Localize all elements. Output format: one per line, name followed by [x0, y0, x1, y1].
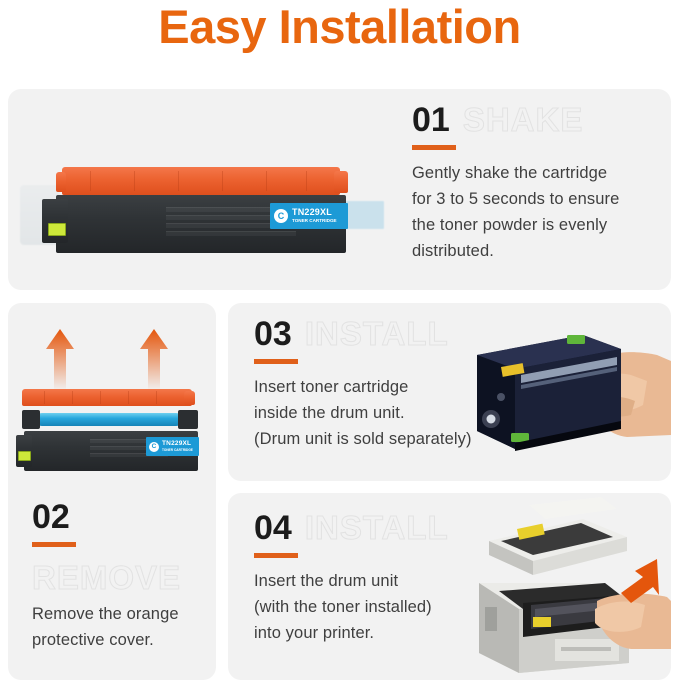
- step-02-description: Remove the orange protective cover.: [32, 601, 212, 653]
- orange-protective-cover: [22, 389, 192, 406]
- step-01-number: 01: [412, 103, 450, 137]
- step-01-keyword: SHAKE: [463, 103, 584, 137]
- color-code-chip: C: [149, 442, 159, 452]
- toner-cartridge-illustration: C TN229XL TONER CARTRIDGE: [20, 167, 380, 277]
- step-03-description: Insert toner cartridge inside the drum u…: [254, 374, 554, 452]
- step-card-01: C TN229XL TONER CARTRIDGE 01 SHAKE Gentl…: [8, 89, 671, 290]
- cartridge-cover-removal-illustration: C TN229XL TONER CARTRIDGE: [14, 389, 210, 493]
- step-card-02: C TN229XL TONER CARTRIDGE 02 REMOVE Remo…: [8, 303, 216, 680]
- cartridge-model-text: TN229XL: [162, 441, 193, 448]
- color-code-chip: C: [274, 209, 288, 223]
- step-02-number: 02: [32, 500, 212, 534]
- step-01-accent-rule: [412, 145, 456, 150]
- step-04-text-block: 04 INSTALL Insert the drum unit (with th…: [254, 511, 554, 646]
- orange-protective-cover: [62, 167, 340, 195]
- step-03-heading: 03 INSTALL: [254, 317, 554, 351]
- step-03-text-block: 03 INSTALL Insert toner cartridge inside…: [254, 317, 554, 452]
- cartridge-subtitle-text: TONER CARTRIDGE: [162, 449, 193, 452]
- step-02-text-block: 02 REMOVE Remove the orange protective c…: [32, 500, 212, 653]
- cartridge-subtitle-text: TONER CARTRIDGE: [292, 219, 337, 224]
- step-01-text-block: 01 SHAKE Gently shake the cartridge for …: [412, 103, 670, 264]
- cartridge-model-label: C TN229XL TONER CARTRIDGE: [146, 437, 199, 456]
- cartridge-chip: [48, 223, 66, 236]
- cartridge-chip: [18, 451, 31, 461]
- step-04-keyword: INSTALL: [305, 511, 449, 545]
- double-up-arrow-icon: [30, 325, 200, 395]
- page-header: Easy Installation: [0, 0, 679, 84]
- step-03-accent-rule: [254, 359, 298, 364]
- step-01-heading: 01 SHAKE: [412, 103, 670, 137]
- step-04-accent-rule: [254, 553, 298, 558]
- cartridge-model-label: C TN229XL TONER CARTRIDGE: [270, 203, 348, 229]
- step-01-description: Gently shake the cartridge for 3 to 5 se…: [412, 160, 670, 264]
- step-04-number: 04: [254, 511, 292, 545]
- step-02-accent-rule: [32, 542, 76, 547]
- cartridge-model-text: TN229XL: [292, 208, 337, 217]
- step-03-number: 03: [254, 317, 292, 351]
- step-04-description: Insert the drum unit (with the toner ins…: [254, 568, 554, 646]
- step-03-keyword: INSTALL: [305, 317, 449, 351]
- exposed-drum-roller: [36, 413, 182, 426]
- step-02-keyword: REMOVE: [32, 561, 212, 595]
- step-04-heading: 04 INSTALL: [254, 511, 554, 545]
- page-title: Easy Installation: [158, 0, 520, 55]
- step-card-03: 03 INSTALL Insert toner cartridge inside…: [228, 303, 671, 481]
- step-card-04: 04 INSTALL Insert the drum unit (with th…: [228, 493, 671, 680]
